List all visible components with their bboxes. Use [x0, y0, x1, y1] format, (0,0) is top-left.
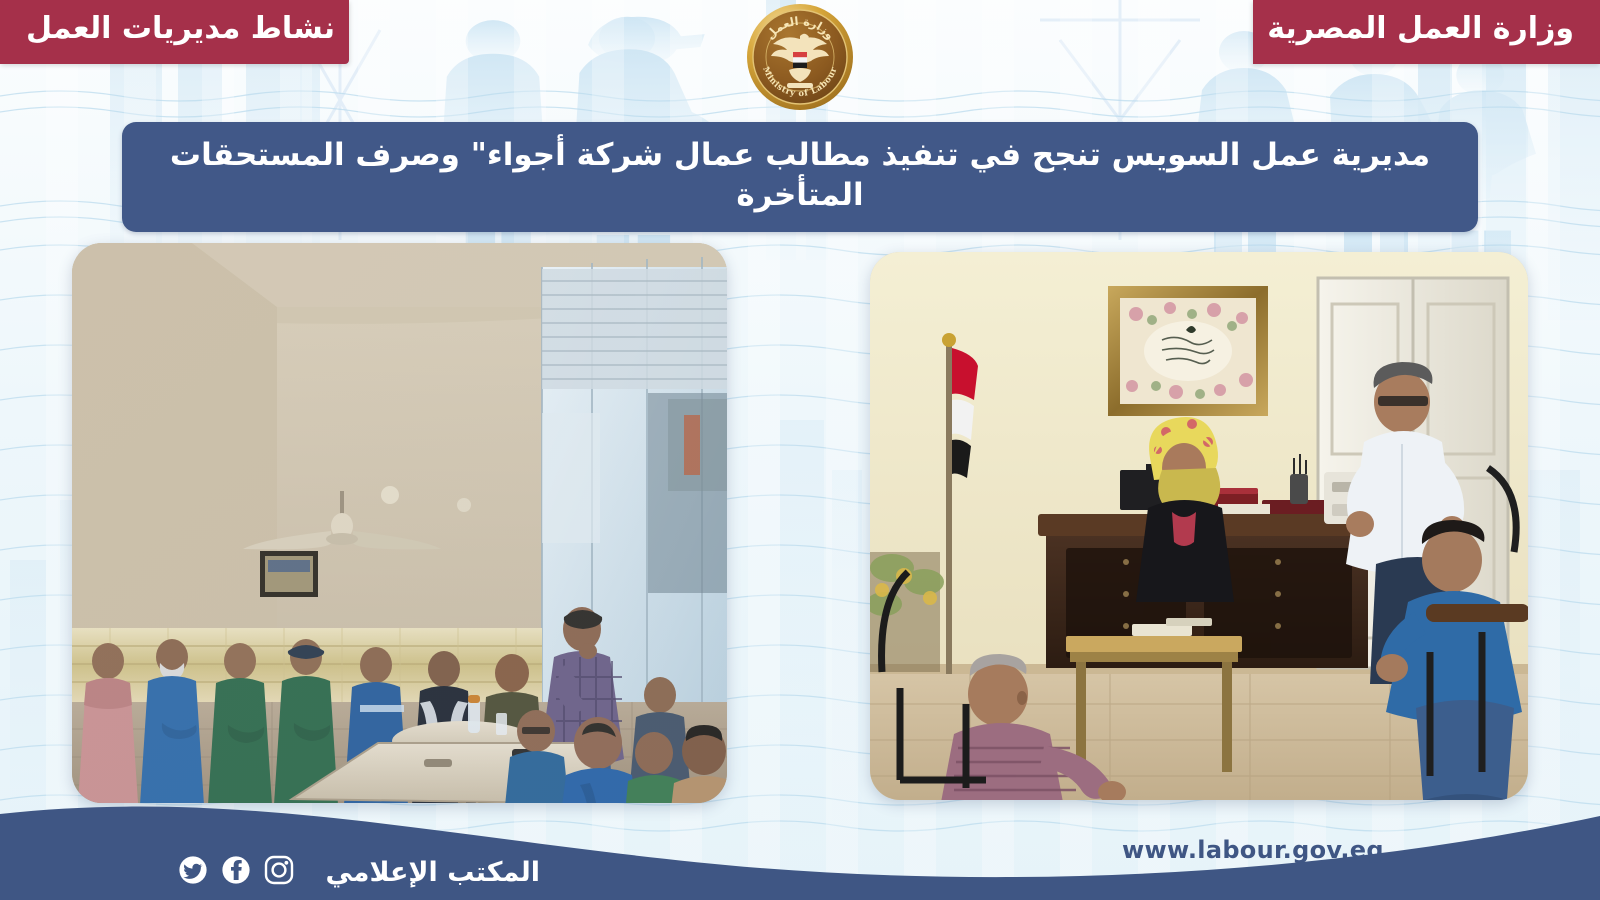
twitter-icon[interactable]: [178, 855, 208, 885]
banner-ministry-name: وزارة العمل المصرية: [1253, 0, 1600, 64]
facebook-link[interactable]: [221, 855, 251, 885]
media-office-label: المكتب الإعلامي: [325, 859, 540, 886]
instagram-icon[interactable]: [264, 855, 294, 885]
photo-workers-meeting-hall: [72, 243, 727, 803]
news-card: نشاط مديريات العمل وزارة العمل المصرية: [0, 0, 1600, 900]
page-title: مديرية عمل السويس تنجح في تنفيذ مطالب عم…: [122, 122, 1478, 232]
ministry-of-labour-seal-icon: وزارة العمل Ministry of Labour: [745, 2, 855, 112]
website-url[interactable]: www.labour.gov.eg: [1122, 838, 1384, 862]
facebook-icon[interactable]: [221, 855, 251, 885]
instagram-link[interactable]: [264, 855, 294, 885]
twitter-link[interactable]: [178, 855, 208, 885]
ministry-logo: وزارة العمل Ministry of Labour: [745, 2, 855, 112]
framed-calligraphy: [1108, 286, 1268, 416]
banner-directorates-activity: نشاط مديريات العمل: [0, 0, 349, 64]
photo-directorate-office-meeting: [870, 252, 1528, 800]
social-links: [178, 855, 294, 885]
